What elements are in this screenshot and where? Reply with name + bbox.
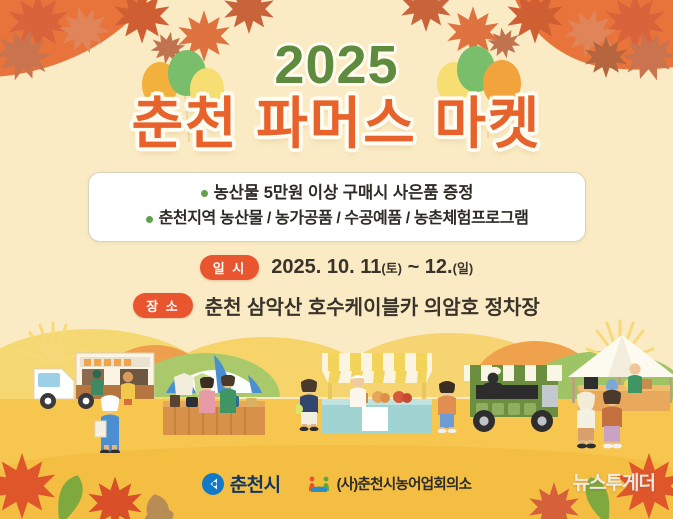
date-main: 2025. 10. 11 bbox=[271, 256, 381, 278]
shopper-person bbox=[196, 377, 218, 418]
vendor-person bbox=[346, 373, 370, 412]
shopper-person bbox=[572, 391, 600, 454]
date-range: ~ 12. bbox=[402, 256, 453, 278]
event-date-value: 2025. 10. 11(토) ~ 12.(일) bbox=[271, 256, 473, 279]
logo-chuncheon-city-label: 춘천시 bbox=[230, 470, 281, 497]
green-food-cart bbox=[454, 351, 566, 440]
info-bullet-1: 농산물 5만원 이상 구매시 사은품 증정 bbox=[99, 182, 575, 204]
event-date-row: 일 시 2025. 10. 11(토) ~ 12.(일) bbox=[0, 255, 673, 280]
maple-leaf-icon bbox=[399, 0, 453, 34]
event-year: 2025 bbox=[0, 38, 673, 92]
info-box: 농산물 5만원 이상 구매시 사은품 증정 춘천지역 농산물 / 농가공품 / … bbox=[88, 172, 586, 242]
shopper-person bbox=[434, 381, 460, 438]
date-weekday-1: (토) bbox=[381, 261, 402, 276]
logo-agri-council-label: (사)춘천시농어업회의소 bbox=[337, 473, 472, 494]
shopper-person bbox=[598, 389, 626, 454]
info-bullet-2-text: 춘천지역 농산물 / 농가공품 / 수공예품 / 농촌체험프로그램 bbox=[159, 208, 529, 230]
date-badge: 일 시 bbox=[200, 255, 260, 280]
chuncheon-c-icon bbox=[202, 473, 224, 495]
people-group-icon bbox=[307, 470, 331, 497]
bullet-dot-icon bbox=[201, 190, 208, 197]
poster-canvas: 2025 춘천 파머스 마켓 농산물 5만원 이상 구매시 사은품 증정 춘천지… bbox=[0, 0, 673, 519]
date-weekday-2: (일) bbox=[453, 261, 474, 276]
shopper-person bbox=[93, 395, 127, 458]
info-bullet-1-text: 농산물 5만원 이상 구매시 사은품 증정 bbox=[214, 182, 474, 204]
info-bullet-2: 춘천지역 농산물 / 농가공품 / 수공예품 / 농촌체험프로그램 bbox=[99, 208, 575, 230]
bullet-dot-icon bbox=[146, 216, 153, 223]
page-title: 춘천 파머스 마켓 bbox=[0, 95, 673, 154]
event-place-row: 장 소 춘천 삼악산 호수케이블카 의암호 정차장 bbox=[0, 291, 673, 320]
maple-leaf-icon bbox=[222, 0, 276, 36]
watermark: 뉴스투게더 bbox=[573, 468, 655, 495]
vendor-person bbox=[216, 375, 240, 418]
vendor-person bbox=[624, 363, 646, 398]
chef-person bbox=[480, 367, 506, 398]
shopper-person bbox=[296, 379, 322, 436]
logo-chuncheon-city: 춘천시 bbox=[202, 470, 281, 497]
logo-agri-council: (사)춘천시농어업회의소 bbox=[307, 470, 472, 497]
place-badge: 장 소 bbox=[133, 293, 193, 318]
event-place-value: 춘천 삼악산 호수케이블카 의암호 정차장 bbox=[205, 291, 540, 320]
